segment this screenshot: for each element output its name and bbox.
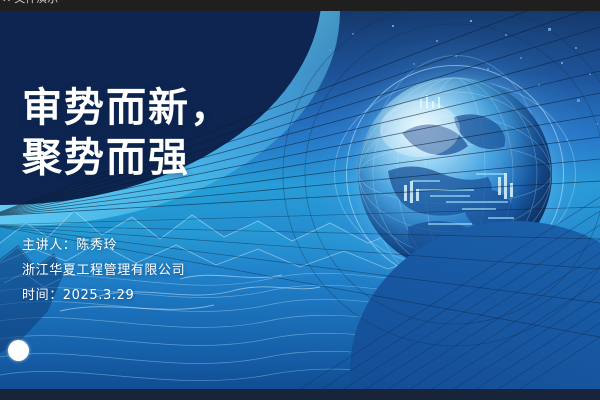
company-line: 浙江华夏工程管理有限公司 <box>22 258 185 283</box>
title-bar-content: ✕ 文件演示 <box>0 0 58 4</box>
bottom-status-bar <box>0 389 600 400</box>
cursor-dot <box>8 340 29 361</box>
slide-headline: 审势而新， 聚势而强 <box>22 83 232 183</box>
slide-canvas[interactable]: 审势而新， 聚势而强 主讲人：陈秀玲 浙江华夏工程管理有限公司 时间：2025.… <box>0 11 600 389</box>
headline-line-2: 聚势而强 <box>22 133 232 183</box>
date-line: 时间：2025.3.29 <box>22 283 185 308</box>
slide-meta-block: 主讲人：陈秀玲 浙江华夏工程管理有限公司 时间：2025.3.29 <box>22 233 185 308</box>
headline-line-1: 审势而新， <box>22 85 232 131</box>
speaker-line: 主讲人：陈秀玲 <box>22 233 185 258</box>
presentation-window: ✕ 文件演示 <box>0 0 600 400</box>
dark-fan-rays <box>0 11 600 389</box>
window-title: 文件演示 <box>14 0 58 4</box>
close-icon[interactable]: ✕ <box>2 0 11 4</box>
window-title-bar: ✕ 文件演示 <box>0 0 600 11</box>
